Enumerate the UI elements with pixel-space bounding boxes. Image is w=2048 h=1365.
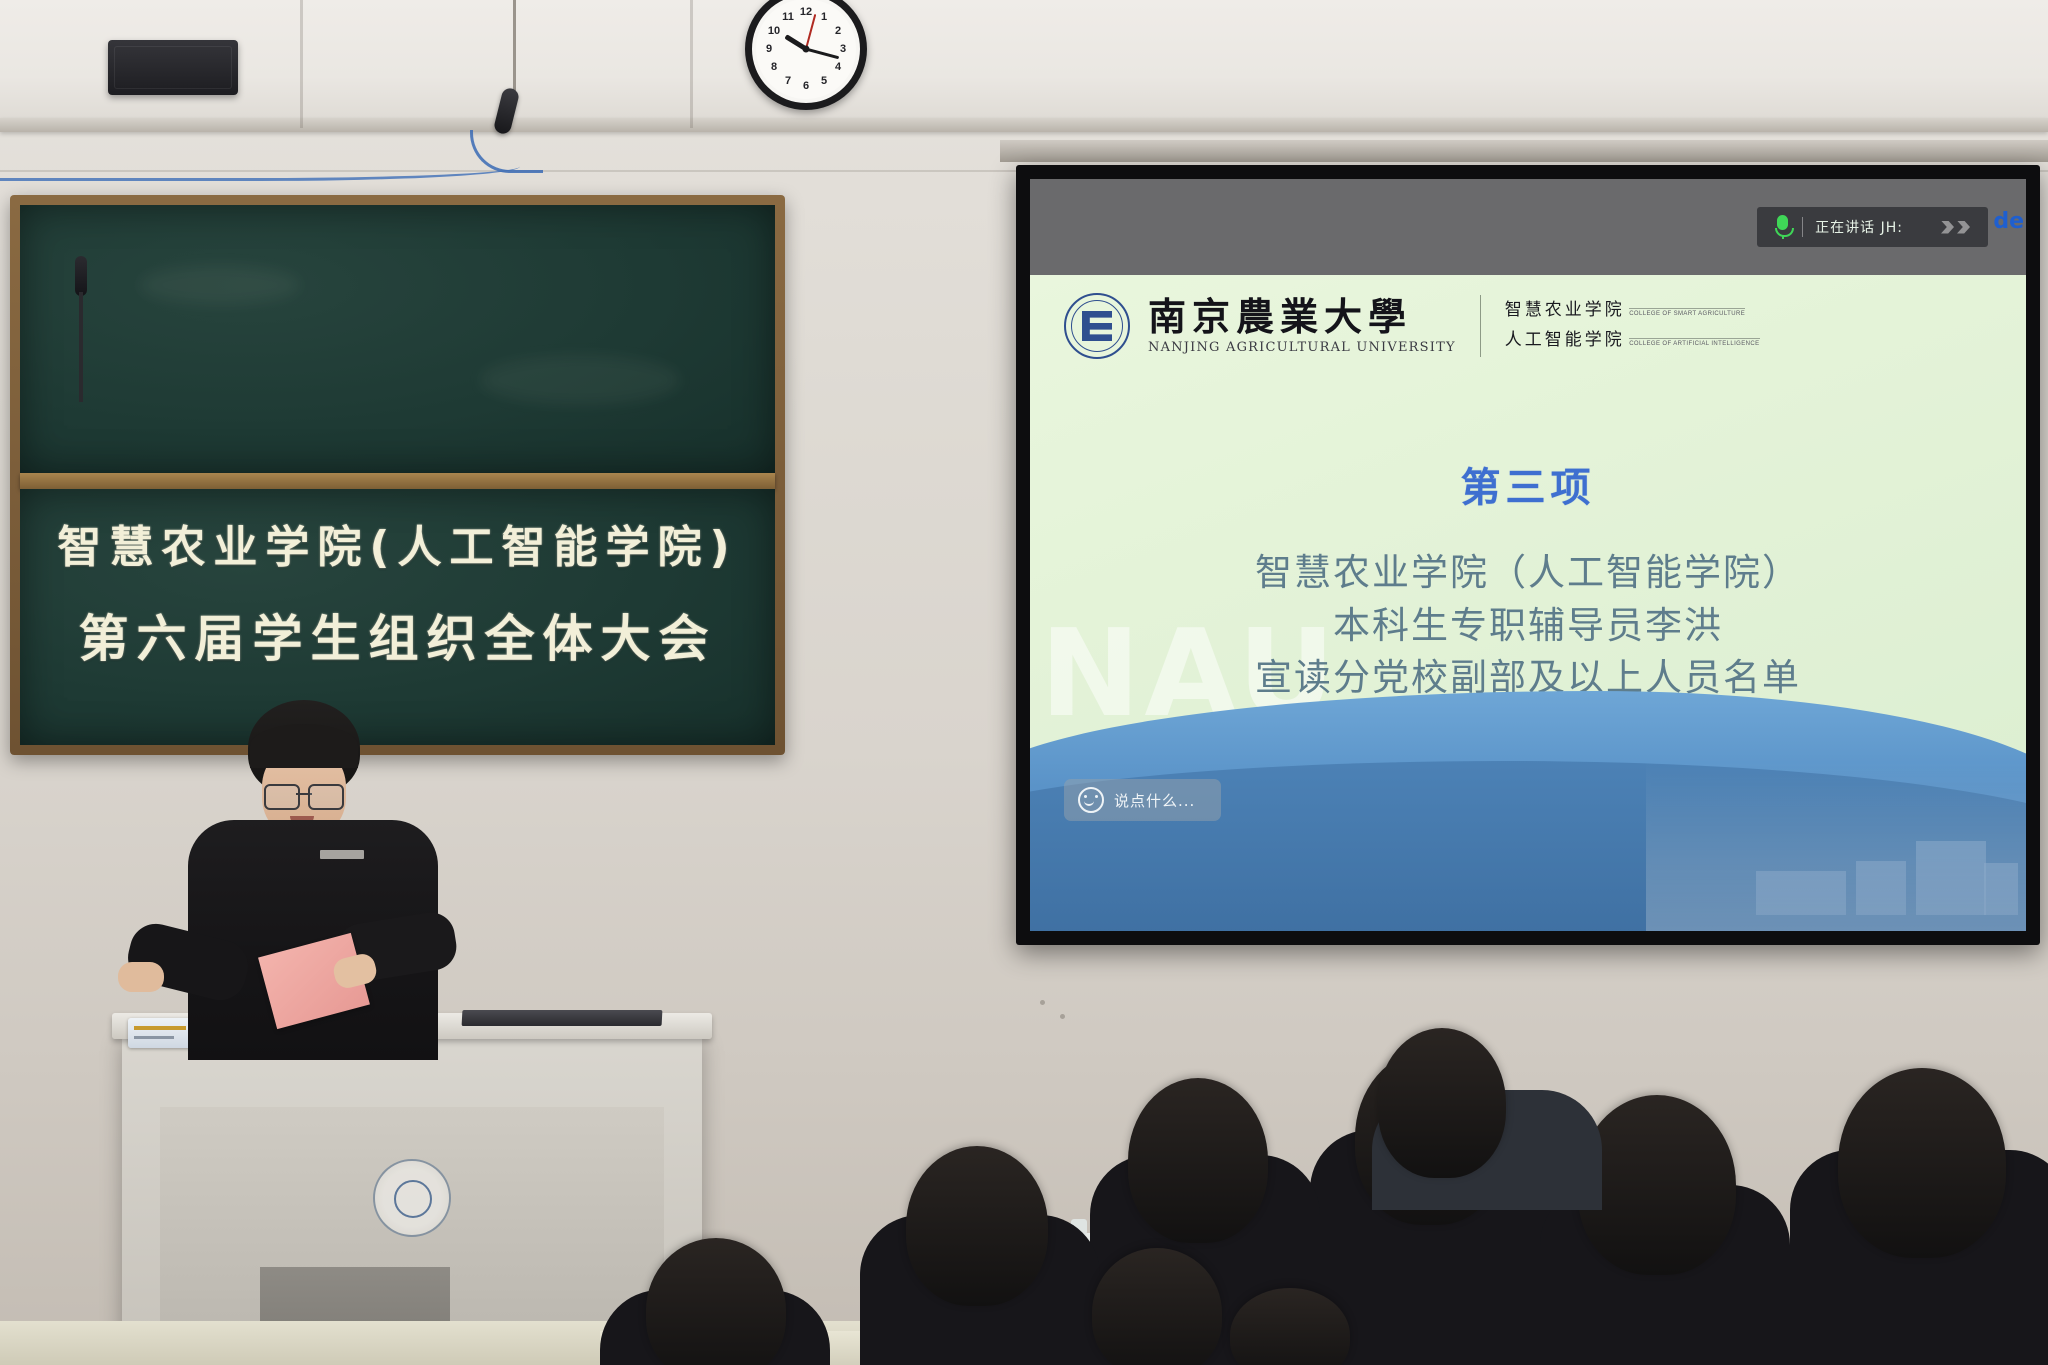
audience-head — [1378, 1028, 1506, 1178]
wall-mark — [1040, 1000, 1045, 1005]
blackboard: 智慧农业学院(人工智能学院) 第六届学生组织全体大会 — [10, 195, 785, 755]
eyeglasses-icon — [264, 784, 344, 806]
clock-second-hand — [805, 14, 816, 49]
slide-body-line: 本科生专职辅导员李洪 — [1030, 600, 2026, 653]
smiley-icon[interactable] — [1078, 787, 1104, 813]
slide-title: 第三项 — [1030, 455, 2026, 513]
conference-top-bar: 正在讲话 JH: de — [1030, 179, 2026, 275]
audience-head — [1128, 1078, 1268, 1243]
nau-podium-seal-icon — [373, 1159, 451, 1237]
clock-number: 2 — [835, 25, 841, 37]
wall-speaker-box — [108, 40, 238, 95]
university-name-cn: 南京農業大學 — [1148, 297, 1456, 337]
corner-badge: de — [1993, 209, 2024, 234]
clock-number: 5 — [821, 75, 827, 87]
blackboard-chalk-ledge — [20, 473, 775, 489]
university-name-block: 南京農業大學 NANJING AGRICULTURAL UNIVERSITY — [1148, 297, 1456, 355]
university-name-en: NANJING AGRICULTURAL UNIVERSITY — [1148, 340, 1456, 355]
clock-minute-hand — [806, 48, 840, 60]
screen-mount-rail — [1000, 140, 2048, 162]
blackboard-upper-panel — [20, 205, 775, 473]
blackboard-heading-line-2: 第六届学生组织全体大会 — [20, 599, 775, 671]
clock-number: 3 — [840, 43, 846, 55]
slide-logo-header: 南京農業大學 NANJING AGRICULTURAL UNIVERSITY 智… — [1064, 293, 1760, 359]
blue-cable — [0, 152, 520, 181]
speaking-status-chip[interactable]: 正在讲话 JH: — [1757, 207, 1988, 247]
college-entry: 智慧农业学院 COLLEGE OF SMART AGRICULTURE — [1505, 302, 1760, 320]
clock-number: 1 — [821, 11, 827, 23]
clock-center-pin — [803, 46, 810, 53]
college-name-cn: 人工智能学院 — [1505, 330, 1625, 350]
clock-number: 10 — [768, 25, 780, 37]
blackboard-surface: 智慧农业学院(人工智能学院) 第六届学生组织全体大会 — [20, 205, 775, 745]
clock-number: 6 — [803, 80, 809, 92]
projection-screen: 正在讲话 JH: de NAU 南京農業大學 NANJING AGRICULTU… — [1016, 165, 2040, 945]
clock-number: 12 — [800, 6, 812, 18]
speaking-status-label: 正在讲话 JH: — [1815, 217, 1903, 237]
divider — [1802, 217, 1803, 237]
logo-divider — [1480, 295, 1481, 357]
college-name-cn: 智慧农业学院 — [1505, 300, 1625, 320]
name-card — [128, 1018, 194, 1048]
wall-joint — [300, 0, 303, 128]
college-names-block: 智慧农业学院 COLLEGE OF SMART AGRICULTURE 人工智能… — [1505, 302, 1760, 350]
clock-number: 9 — [766, 43, 772, 55]
podium-microphone-icon — [75, 256, 87, 296]
podium-microphone-stem — [79, 292, 83, 402]
wall-joint — [690, 0, 693, 128]
classroom-scene: 12 1 2 3 4 5 6 7 8 9 10 11 — [0, 0, 2048, 1365]
nau-seal-icon — [1064, 293, 1130, 359]
chat-input[interactable]: 说点什么... — [1064, 779, 1221, 821]
ceiling-rail — [0, 118, 2048, 132]
blackboard-heading-line-1: 智慧农业学院(人工智能学院) — [20, 511, 775, 575]
laptop-lid — [462, 1010, 663, 1026]
presentation-slide: NAU 南京農業大學 NANJING AGRICULTURAL UNIVERSI… — [1030, 275, 2026, 931]
campus-photo-overlay — [1646, 761, 2026, 931]
clock-face: 12 1 2 3 4 5 6 7 8 9 10 11 — [756, 0, 856, 99]
audience-head — [1838, 1068, 2006, 1258]
college-name-en: COLLEGE OF SMART AGRICULTURE — [1629, 308, 1745, 317]
wall-mark — [1060, 1014, 1065, 1019]
audience-head — [906, 1146, 1048, 1306]
clock-number: 4 — [835, 61, 841, 73]
clock-number: 7 — [785, 75, 791, 87]
screen-display-area: 正在讲话 JH: de NAU 南京農業大學 NANJING AGRICULTU… — [1030, 179, 2026, 931]
clock-number: 11 — [782, 11, 794, 23]
ceiling-band — [0, 0, 2048, 128]
presenter-fringe — [250, 724, 358, 768]
college-entry: 人工智能学院 COLLEGE OF ARTIFICIAL INTELLIGENC… — [1505, 332, 1760, 350]
slide-body-line: 智慧农业学院（人工智能学院） — [1030, 547, 2026, 600]
sweater-logo — [320, 850, 364, 859]
presenter-left-hand — [118, 962, 164, 992]
clock-number: 8 — [771, 61, 777, 73]
college-name-en: COLLEGE OF ARTIFICIAL INTELLIGENCE — [1629, 338, 1759, 347]
chat-placeholder: 说点什么... — [1114, 790, 1195, 811]
presenter-at-podium — [188, 700, 438, 1060]
chevron-double-icon[interactable] — [1941, 221, 1970, 234]
microphone-icon — [1775, 215, 1790, 239]
